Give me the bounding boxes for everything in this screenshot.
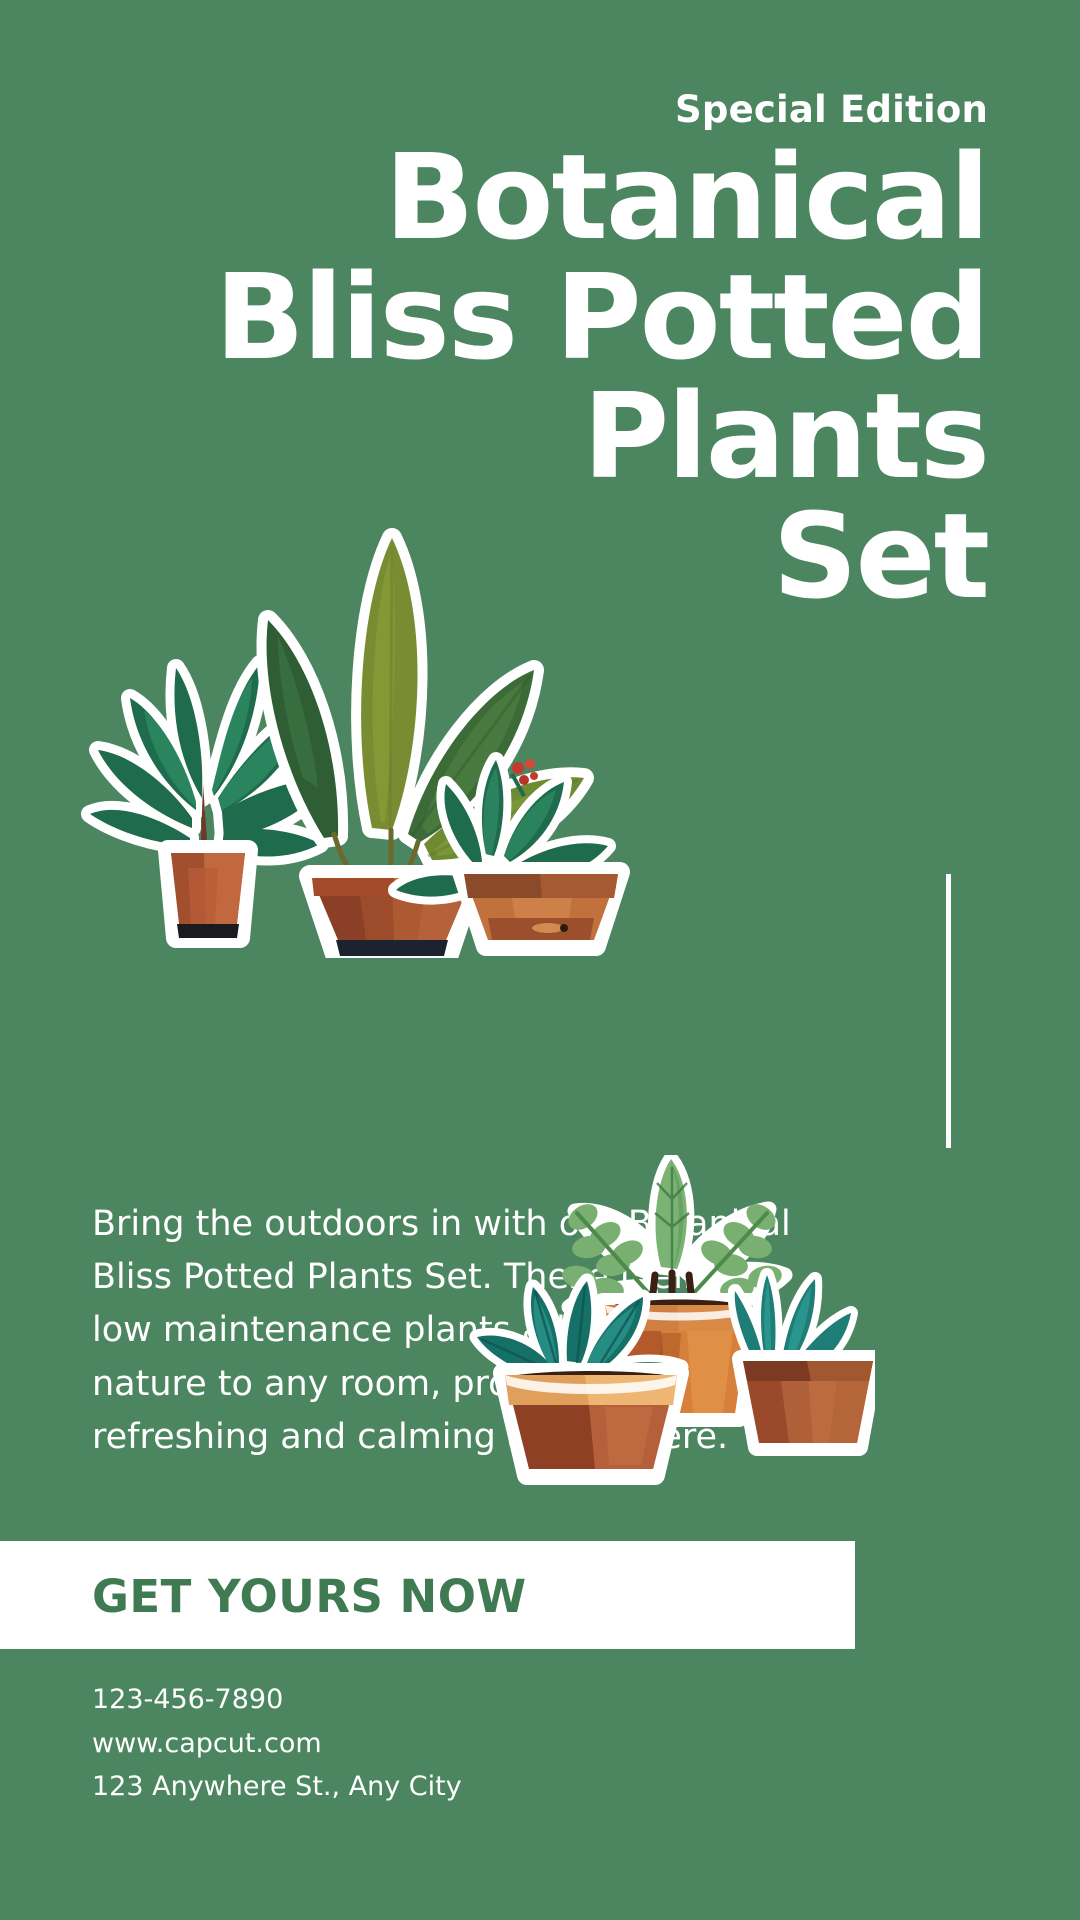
poster-canvas: Special Edition Botanical Bliss Potted P… [0, 0, 1080, 1920]
bottom-plants-illustration [455, 1155, 875, 1495]
contact-website[interactable]: www.capcut.com [92, 1722, 462, 1766]
contact-phone[interactable]: 123-456-7890 [92, 1678, 462, 1722]
contact-block: 123-456-7890 www.capcut.com 123 Anywhere… [92, 1678, 462, 1809]
page-title: Botanical Bliss Potted Plants Set [68, 140, 988, 615]
cta-label[interactable]: GET YOURS NOW [92, 1570, 527, 1623]
title-line-1: Botanical [68, 140, 988, 256]
contact-address: 123 Anywhere St., Any City [92, 1765, 462, 1809]
agave-pot [735, 1275, 875, 1447]
title-line-4: Set [68, 499, 988, 615]
title-line-2: Bliss Potted [68, 260, 988, 376]
vertical-accent-rule [946, 874, 951, 1148]
eyebrow-label: Special Edition [675, 88, 988, 131]
title-line-3: Plants [68, 379, 988, 495]
